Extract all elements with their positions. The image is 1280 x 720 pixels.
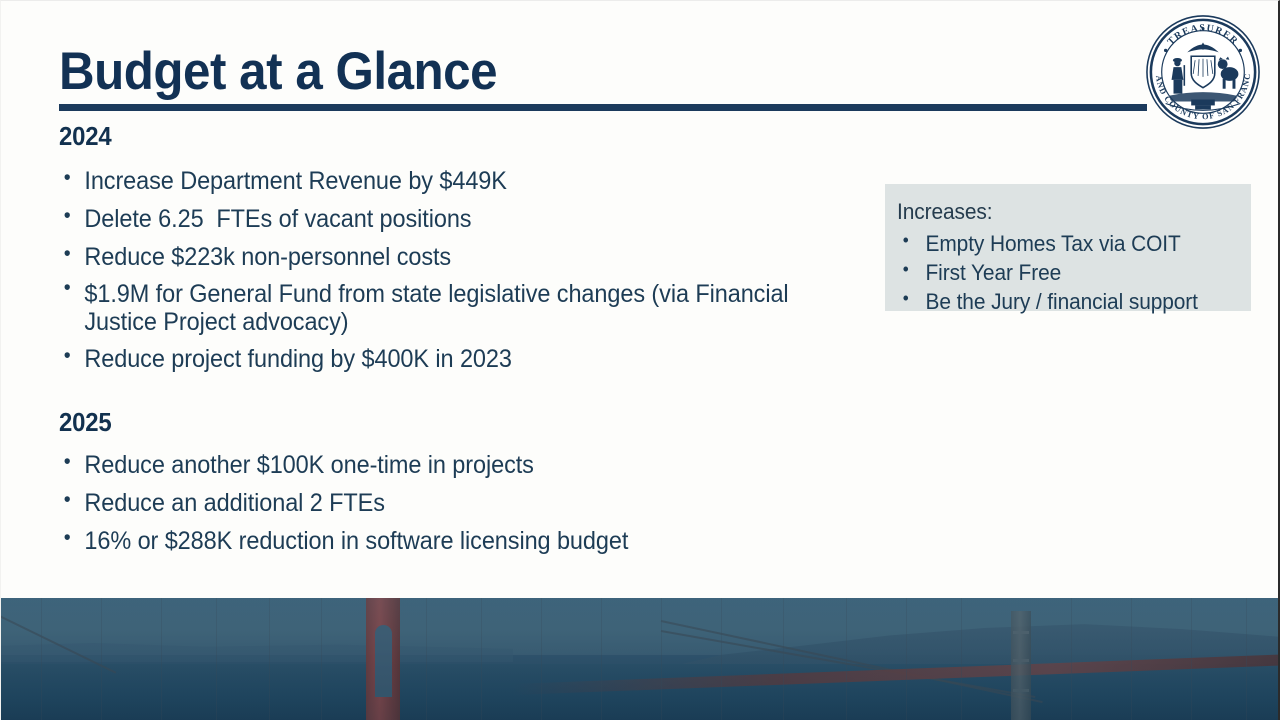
suspender-cable	[721, 598, 722, 720]
suspender-cable	[1071, 598, 1072, 720]
suspender-cable	[906, 598, 907, 720]
suspender-cable	[426, 598, 427, 720]
list-item: $1.9M for General Fund from state legisl…	[59, 276, 849, 340]
list-item: Reduce an additional 2 FTEs	[59, 484, 849, 522]
list-item: Delete 6.25 FTEs of vacant positions	[59, 200, 849, 238]
golden-gate-bridge-photo	[1, 598, 1280, 720]
increases-list: Empty Homes Tax via COIT First Year Free…	[897, 229, 1241, 317]
suspender-cable	[961, 598, 962, 720]
page-title: Budget at a Glance	[59, 45, 1082, 99]
suspender-cable	[1246, 598, 1247, 720]
bullet-list-2024: Increase Department Revenue by $449K Del…	[59, 162, 899, 378]
increases-callout: Increases: Empty Homes Tax via COIT Firs…	[885, 184, 1251, 311]
suspender-cable	[783, 598, 784, 720]
list-item: First Year Free	[897, 258, 1224, 287]
list-item: Reduce project funding by $400K in 2023	[59, 340, 849, 378]
title-underline-rule	[59, 104, 1147, 111]
list-item: Reduce $223k non-personnel costs	[59, 238, 849, 276]
section-heading-2025: 2025	[59, 407, 832, 438]
tower-portal	[375, 625, 392, 697]
suspender-cable	[1191, 598, 1192, 720]
suspender-cable	[541, 598, 542, 720]
list-item: Empty Homes Tax via COIT	[897, 229, 1224, 258]
increases-title: Increases:	[897, 198, 1224, 226]
bridge-tower-far	[1011, 611, 1031, 720]
suspender-cable	[661, 598, 662, 720]
list-item: Be the Jury / financial support	[897, 287, 1224, 316]
section-2024: 2024 Increase Department Revenue by $449…	[59, 121, 899, 378]
suspender-cable	[216, 598, 217, 720]
section-heading-2024: 2024	[59, 121, 832, 152]
suspender-cable	[321, 598, 322, 720]
suspender-cable	[481, 598, 482, 720]
suspender-cable	[101, 598, 102, 720]
section-2025: 2025 Reduce another $100K one-time in pr…	[59, 407, 899, 560]
suspender-cable	[41, 598, 42, 720]
city-seal: TREASURER CITY AND COUNTY OF SAN FRANCIS…	[1144, 13, 1262, 131]
suspender-cable	[161, 598, 162, 720]
title-block: Budget at a Glance	[59, 45, 1159, 99]
slide-canvas: Budget at a Glance TREASURER CITY AND CO…	[0, 0, 1280, 720]
list-item: Reduce another $100K one-time in project…	[59, 446, 849, 484]
suspender-cable	[269, 598, 270, 720]
suspender-cable	[1131, 598, 1132, 720]
bullet-list-2025: Reduce another $100K one-time in project…	[59, 446, 899, 560]
bridge-tower-near	[366, 598, 400, 720]
list-item: Increase Department Revenue by $449K	[59, 162, 849, 200]
suspender-cable	[601, 598, 602, 720]
suspender-cable	[846, 598, 847, 720]
list-item: 16% or $288K reduction in software licen…	[59, 522, 849, 560]
